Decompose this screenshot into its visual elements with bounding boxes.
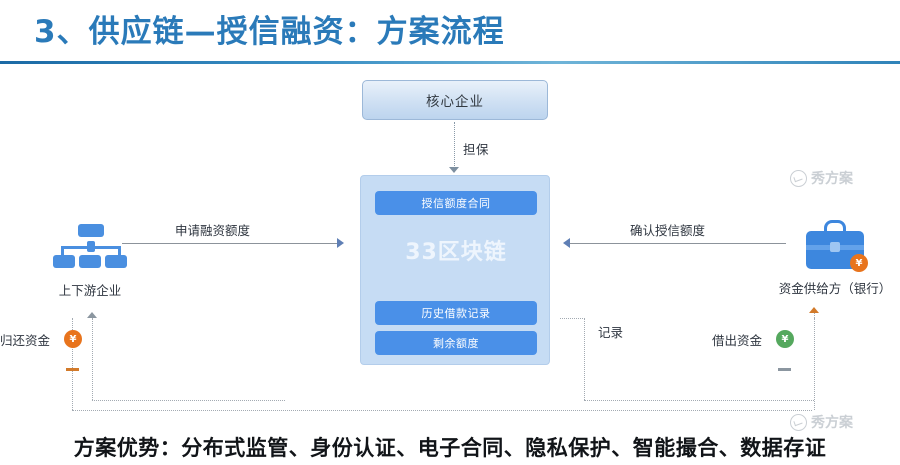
blockchain-bar-label: 授信额度合同 — [422, 195, 491, 211]
guarantee-label: 担保 — [463, 139, 489, 158]
arrow-left-head-icon — [563, 238, 570, 248]
record-dotted-horizontal — [584, 400, 814, 401]
repay-coin-icon: ¥ — [64, 330, 82, 348]
watermark-text: 秀方案 — [811, 412, 853, 432]
repay-arrowhead-icon — [87, 312, 97, 318]
dotted-flow-label-lend: 借出资金 — [712, 330, 762, 349]
watermark-logo-icon — [790, 170, 807, 187]
dotted-flow-label-record: 记录 — [598, 322, 623, 341]
arrow-right-head-icon — [337, 238, 344, 248]
blockchain-bar-remaining-credit: 剩余额度 — [375, 331, 537, 355]
flow-arrow-confirm — [570, 243, 786, 244]
node-core-enterprise-label: 核心企业 — [426, 90, 484, 110]
repay-dotted-outer-horizontal — [72, 410, 812, 411]
blockchain-bar-label: 剩余额度 — [433, 335, 479, 351]
flow-label-apply: 申请融资额度 — [175, 220, 250, 239]
watermark-top: 秀方案 — [790, 168, 853, 188]
left-actor-label: 上下游企业 — [42, 280, 138, 299]
record-dotted-left-vertical — [584, 318, 585, 400]
currency-coin-icon: ¥ — [850, 254, 868, 272]
repay-dotted-inner-horizontal — [92, 400, 285, 401]
guarantee-arrowhead-icon — [449, 167, 459, 173]
org-chart-icon — [51, 224, 129, 276]
lend-dotted-vertical — [814, 312, 815, 410]
page-title: 3、供应链—授信融资：方案流程 — [34, 6, 505, 51]
node-blockchain-panel: 授信额度合同 33区块链 历史借款记录 剩余额度 — [360, 175, 550, 365]
briefcase-icon: ¥ — [804, 218, 866, 274]
watermark-logo-icon — [790, 414, 807, 431]
node-upstream-downstream-enterprise: 上下游企业 — [42, 224, 138, 299]
slide-canvas: 3、供应链—授信融资：方案流程 核心企业 担保 授信额度合同 33区块链 历史借… — [0, 0, 900, 465]
blockchain-bar-loan-history: 历史借款记录 — [375, 301, 537, 325]
repay-tick-marker-icon — [66, 368, 79, 371]
watermark-text: 秀方案 — [811, 168, 853, 188]
lend-arrowhead-icon — [809, 307, 819, 313]
blockchain-bar-label: 历史借款记录 — [422, 305, 491, 321]
blockchain-bar-credit-contract: 授信额度合同 — [375, 191, 537, 215]
repay-dotted-inner-vertical — [92, 318, 93, 400]
dotted-flow-label-repay: 归还资金 — [0, 330, 50, 349]
lend-coin-icon: ¥ — [776, 330, 794, 348]
title-divider — [0, 61, 900, 64]
guarantee-connector — [454, 122, 455, 170]
record-dotted-corner — [560, 318, 585, 319]
blockchain-title: 33区块链 — [361, 234, 551, 266]
lend-tick-marker-icon — [778, 368, 791, 371]
right-actor-label: 资金供给方（银行） — [770, 278, 900, 297]
flow-arrow-apply — [122, 243, 338, 244]
node-core-enterprise: 核心企业 — [362, 80, 548, 120]
advantages-summary: 方案优势：分布式监管、身份认证、电子合同、隐私保护、智能撮合、数据存证 — [0, 432, 900, 462]
flow-label-confirm: 确认授信额度 — [630, 220, 705, 239]
watermark-bottom: 秀方案 — [790, 412, 853, 432]
node-capital-provider-bank: ¥ 资金供给方（银行） — [770, 218, 900, 297]
